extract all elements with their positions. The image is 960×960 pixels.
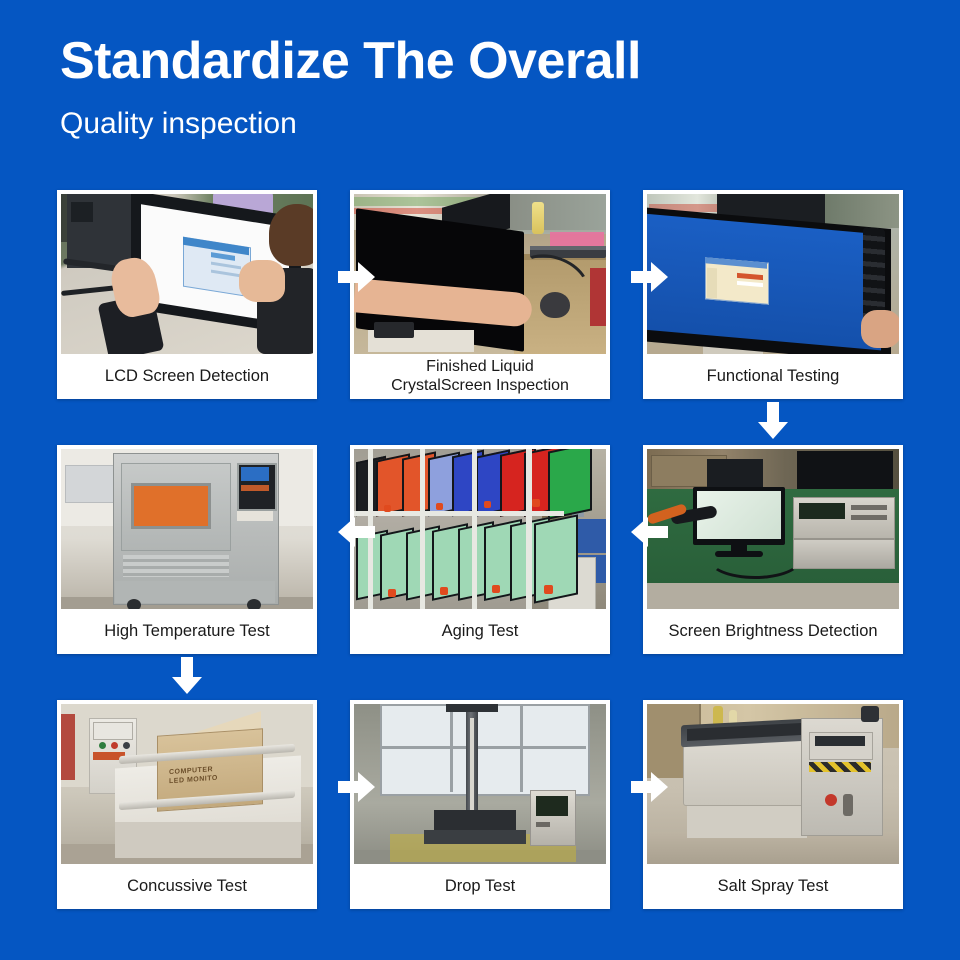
card-functional-testing[interactable]: Functional Testing [643, 190, 903, 399]
card-aging-test[interactable]: Aging Test [350, 445, 610, 654]
page-title: Standardize The Overall [60, 34, 920, 89]
card-caption: Screen Brightness Detection [647, 609, 899, 654]
caption-line-2: CrystalScreen Inspection [391, 377, 569, 394]
photo-drop-test [354, 704, 606, 864]
photo-functional-testing [647, 194, 899, 354]
photo-lcd-screen-detection [61, 194, 313, 354]
photo-finished-lcd-inspection [354, 194, 606, 354]
card-finished-lcd-inspection[interactable]: Finished Liquid CrystalScreen Inspection [350, 190, 610, 399]
inspection-flow-grid: LCD Screen Detection Finished [57, 190, 903, 920]
card-caption: Drop Test [354, 864, 606, 909]
card-caption: Aging Test [354, 609, 606, 654]
page-header: Standardize The Overall Quality inspecti… [60, 34, 920, 140]
photo-aging-test [354, 449, 606, 609]
card-screen-brightness-detection[interactable]: Screen Brightness Detection [643, 445, 903, 654]
card-caption: Functional Testing [647, 354, 899, 399]
caption-line-1: Finished Liquid [426, 358, 534, 375]
card-salt-spray-test[interactable]: Salt Spray Test [643, 700, 903, 909]
photo-screen-brightness-detection [647, 449, 899, 609]
page-subtitle: Quality inspection [60, 107, 920, 140]
card-high-temperature-test[interactable]: High Temperature Test [57, 445, 317, 654]
photo-concussive-test: COMPUTER LED MONITO [61, 704, 313, 864]
card-caption: Salt Spray Test [647, 864, 899, 909]
box-label-line-2: LED MONITO [169, 774, 218, 784]
card-drop-test[interactable]: Drop Test [350, 700, 610, 909]
card-concussive-test[interactable]: COMPUTER LED MONITO Concussive Test [57, 700, 317, 909]
card-caption: Finished Liquid CrystalScreen Inspection [354, 354, 606, 399]
photo-high-temperature-test [61, 449, 313, 609]
card-lcd-screen-detection[interactable]: LCD Screen Detection [57, 190, 317, 399]
card-caption: LCD Screen Detection [61, 354, 313, 399]
card-caption: High Temperature Test [61, 609, 313, 654]
card-caption: Concussive Test [61, 864, 313, 909]
photo-salt-spray-test [647, 704, 899, 864]
